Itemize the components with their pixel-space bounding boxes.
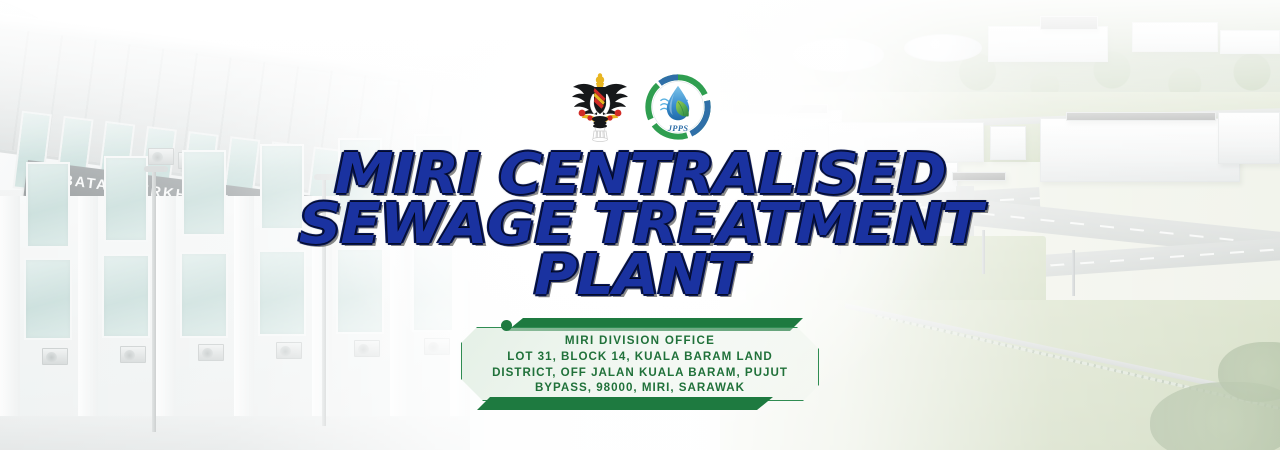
address-line-3: BYPASS, 98000, MIRI, SARAWAK	[535, 380, 745, 396]
address-line-1: LOT 31, BLOCK 14, KUALA BARAM LAND	[507, 349, 772, 365]
plant-building	[988, 26, 1108, 62]
address-banner-dot	[501, 320, 512, 331]
plant-building	[1132, 22, 1218, 52]
hero-banner: JABATAN PERKHIDMATAN PEM	[0, 0, 1280, 450]
logo-row: JABATAN PERKHIDMATAN PEMBETUNGAN SARAWAK	[0, 72, 1280, 147]
address-banner: MIRI DIVISION OFFICE LOT 31, BLOCK 14, K…	[0, 318, 1280, 410]
jpps-acronym-text: JPPS	[667, 123, 689, 133]
plant-building-roof	[1040, 16, 1098, 30]
address-banner-bottom-bar	[477, 397, 773, 410]
page-title-line-3: PLANT	[0, 249, 1280, 303]
address-line-2: DISTRICT, OFF JALAN KUALA BARAM, PUJUT	[492, 365, 788, 381]
page-title: MIRI CENTRALISED SEWAGE TREATMENT PLANT	[0, 148, 1280, 303]
address-banner-body: MIRI DIVISION OFFICE LOT 31, BLOCK 14, K…	[461, 327, 819, 401]
plant-building	[1220, 30, 1280, 54]
sarawak-state-crest-icon	[569, 72, 631, 147]
address-heading: MIRI DIVISION OFFICE	[565, 333, 715, 349]
clarifier-tank	[792, 38, 884, 72]
clarifier-tank	[904, 34, 982, 62]
jpps-logo-icon: JABATAN PERKHIDMATAN PEMBETUNGAN SARAWAK	[645, 74, 711, 145]
